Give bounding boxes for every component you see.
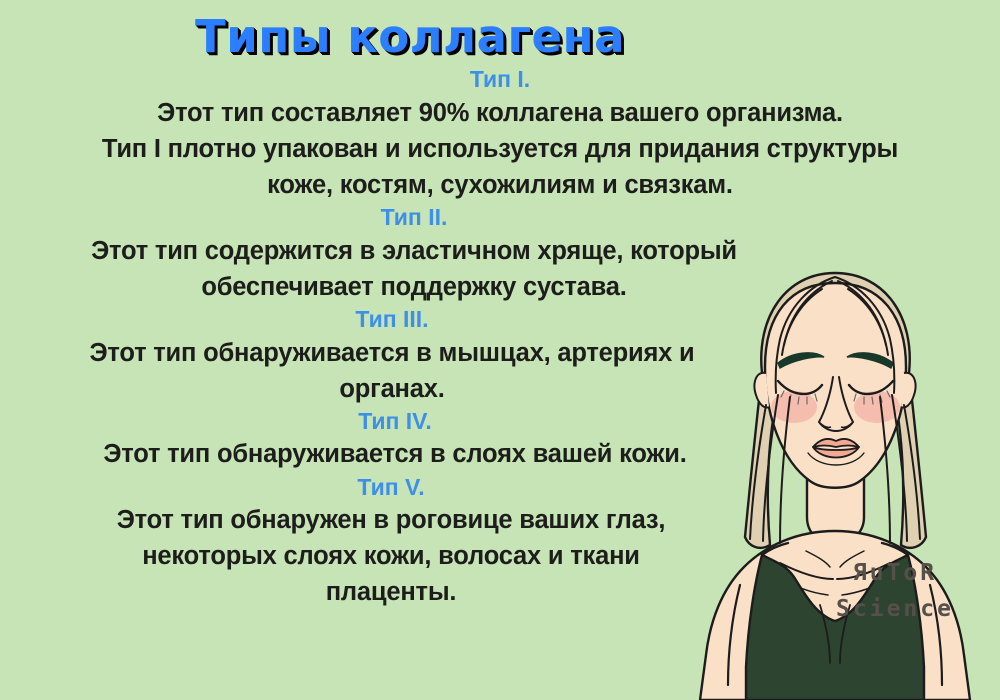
type-body-5-line-1: Этот тип обнаружен в роговице ваших глаз… — [0, 502, 782, 538]
watermark-line-2: Science — [800, 592, 990, 628]
watermark-line-1: ЯuToR — [800, 556, 990, 592]
section-type-1: Тип I. Этот тип составляет 90% коллагена… — [0, 65, 1000, 203]
type-body-5-line-3: плаценты. — [0, 574, 782, 610]
section-type-5: Тип V. Этот тип обнаружен в роговице ваш… — [0, 473, 782, 611]
type-body-2-line-1: Этот тип содержится в эластичном хряще, … — [0, 233, 828, 269]
type-body-4-line-1: Этот тип обнаруживается в слоях вашей ко… — [0, 436, 790, 472]
type-heading-2: Тип II. — [0, 203, 828, 232]
type-body-3-line-1: Этот тип обнаруживается в мышцах, артери… — [0, 335, 784, 371]
eyebrow-right — [847, 353, 893, 368]
type-body-1-line-3: коже, костям, сухожилиям и связкам. — [0, 167, 1000, 203]
type-body-2-line-2: обеспечивает поддержку сустава. — [0, 269, 828, 305]
type-body-1-line-1: Этот тип составляет 90% коллагена вашего… — [0, 95, 1000, 131]
page-title: Типы коллагена — [0, 0, 820, 60]
watermark: ЯuToR Science — [800, 556, 990, 627]
eye-right — [849, 381, 893, 394]
type-heading-4: Тип IV. — [0, 407, 790, 436]
section-type-2: Тип II. Этот тип содержится в эластичном… — [0, 203, 828, 305]
section-type-4: Тип IV. Этот тип обнаруживается в слоях … — [0, 407, 790, 473]
type-body-3-line-2: органах. — [0, 371, 784, 407]
type-body-1-line-2: Тип I плотно упакован и используется для… — [0, 131, 1000, 167]
text-column: Типы коллагена Тип I. Этот тип составляе… — [0, 0, 820, 700]
section-type-3: Тип III. Этот тип обнаруживается в мышца… — [0, 305, 784, 407]
type-heading-3: Тип III. — [0, 305, 784, 334]
type-heading-1: Тип I. — [0, 65, 1000, 94]
infographic-poster: Типы коллагена Тип I. Этот тип составляе… — [0, 0, 1000, 700]
nose — [819, 377, 853, 431]
type-heading-5: Тип V. — [0, 473, 782, 502]
type-body-5-line-2: некоторых слоях кожи, волосах и ткани — [0, 538, 782, 574]
